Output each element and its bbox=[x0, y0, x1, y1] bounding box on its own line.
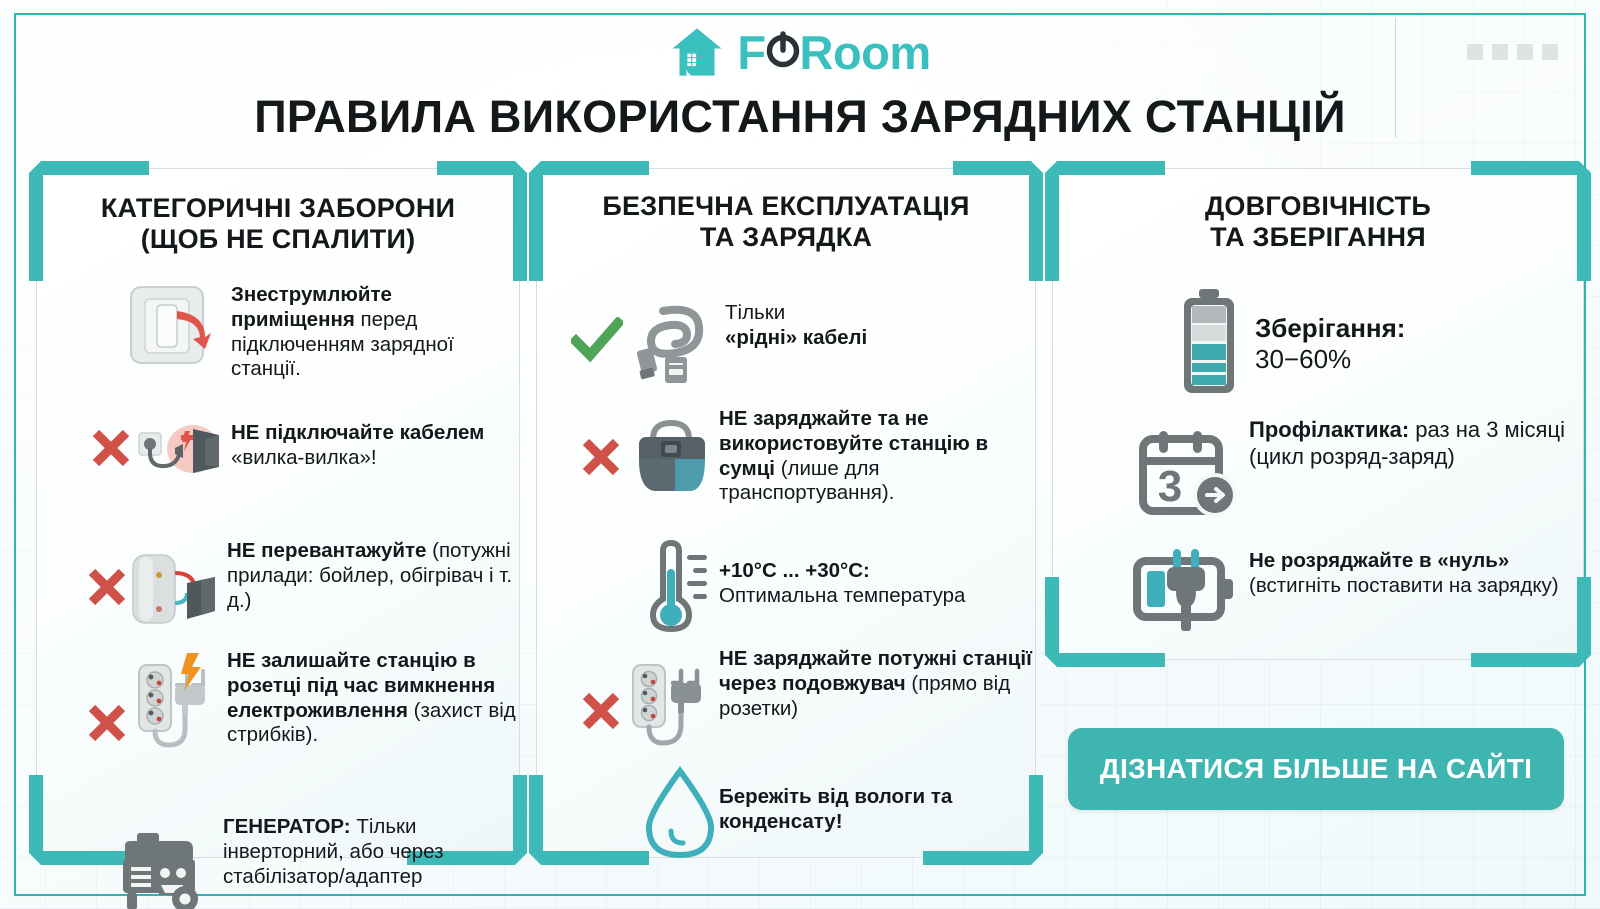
list-item-bold: Не розряджайте в «нуль» bbox=[1249, 549, 1509, 572]
light-switch-icon bbox=[125, 281, 221, 373]
brand-wordmark: F Room bbox=[737, 29, 930, 76]
list-item-bold: Зберігання: bbox=[1255, 313, 1405, 343]
list-item-text: Профілактика: раз на 3 місяці (цикл розр… bbox=[1249, 417, 1569, 470]
list-item-text: +10°C ... +30°C: Оптимальна температура bbox=[719, 559, 1035, 609]
list-item-rest: (встигніть поставити на зарядку) bbox=[1249, 574, 1559, 597]
brand-logo[interactable]: F Room bbox=[0, 22, 1600, 82]
plug-socket-overheat-icon bbox=[135, 421, 221, 479]
infographic-root: F Room ПРАВИЛА ВИКОРИСТАННЯ ЗАРЯДНИХ СТА… bbox=[0, 0, 1600, 909]
card-title-line2: (ЩОБ НЕ СПАЛИТИ) bbox=[37, 224, 519, 255]
header: F Room ПРАВИЛА ВИКОРИСТАННЯ ЗАРЯДНИХ СТА… bbox=[0, 22, 1600, 143]
learn-more-label: ДІЗНАТИСЯ БІЛЬШЕ НА САЙТІ bbox=[1100, 753, 1532, 785]
generator-icon bbox=[113, 829, 221, 909]
list-item-bold: Бережіть від вологи та конденсату! bbox=[719, 785, 952, 833]
list-item: +10°C ... +30°C: Оптимальна температура bbox=[567, 537, 1037, 637]
list-item: 3 Профілактика: раз на 3 місяці (цикл ро… bbox=[1115, 417, 1585, 521]
water-drop-icon bbox=[641, 765, 719, 861]
list-item-bold: НЕ підключайте кабелем bbox=[231, 421, 484, 444]
house-power-icon bbox=[669, 24, 725, 80]
list-item-bold: ГЕНЕРАТОР: bbox=[223, 815, 351, 838]
list-item: НЕ залишайте станцію в розетці під час в… bbox=[93, 649, 523, 759]
list-item: НЕ заряджайте потужні станції через подо… bbox=[567, 647, 1037, 757]
list-item: НЕ перевантажуйте (потужні прилади: бойл… bbox=[93, 539, 523, 629]
list-item-text: НЕ перевантажуйте (потужні прилади: бойл… bbox=[227, 539, 517, 613]
list-item-text: Знеструмлюйте приміщення перед підключен… bbox=[231, 283, 513, 382]
power-strip-plug-icon bbox=[623, 653, 719, 757]
card-longevity: ДОВГОВІЧНІСТЬ ТА ЗБЕРІГАННЯ bbox=[1052, 168, 1584, 660]
list-item-rest: Оптимальна температура bbox=[719, 584, 965, 607]
list-item: НЕ підключайте кабелем «вилка-вилка»! bbox=[93, 417, 513, 479]
list-item-text: НЕ заряджайте потужні станції через подо… bbox=[719, 647, 1037, 721]
list-item-text: Не розряджайте в «нуль» (встигніть поста… bbox=[1249, 549, 1569, 599]
list-item-bold: «рідні» кабелі bbox=[725, 326, 867, 349]
list-item-text: Зберігання: 30−60% bbox=[1255, 313, 1555, 376]
power-symbol-icon bbox=[766, 29, 800, 69]
red-x-icon bbox=[579, 689, 623, 738]
brand-name-part1: F bbox=[737, 29, 765, 76]
list-item: Не розряджайте в «нуль» (встигніть поста… bbox=[1115, 545, 1585, 633]
red-x-icon bbox=[85, 565, 129, 614]
card-title-line1: ДОВГОВІЧНІСТЬ bbox=[1053, 191, 1583, 222]
thermometer-icon bbox=[639, 537, 719, 637]
learn-more-button[interactable]: ДІЗНАТИСЯ БІЛЬШЕ НА САЙТІ bbox=[1068, 728, 1564, 810]
list-item-text: ГЕНЕРАТОР: Тільки інверторний, або через… bbox=[223, 815, 523, 889]
list-item-rest: 30−60% bbox=[1255, 344, 1351, 374]
battery-level-icon bbox=[1173, 287, 1245, 397]
list-item-text: НЕ залишайте станцію в розетці під час в… bbox=[227, 649, 519, 748]
list-item-text: НЕ заряджайте та не використовуйте станц… bbox=[719, 407, 1029, 506]
boiler-heater-icon bbox=[129, 549, 221, 629]
list-item: ГЕНЕРАТОР: Тільки інверторний, або через… bbox=[93, 815, 523, 909]
list-item: Знеструмлюйте приміщення перед підключен… bbox=[93, 279, 513, 382]
card-title-longevity: ДОВГОВІЧНІСТЬ ТА ЗБЕРІГАННЯ bbox=[1053, 191, 1583, 254]
list-item-rest: «вилка-вилка»! bbox=[231, 446, 377, 469]
usb-cable-icon bbox=[621, 297, 719, 389]
card-title-prohibitions: КАТЕГОРИЧНІ ЗАБОРОНИ (ЩОБ НЕ СПАЛИТИ) bbox=[37, 193, 519, 256]
list-item: Зберігання: 30−60% bbox=[1115, 287, 1575, 397]
bag-icon bbox=[625, 417, 719, 501]
green-check-icon bbox=[571, 317, 623, 370]
list-item: НЕ заряджайте та не використовуйте станц… bbox=[567, 407, 1037, 506]
calendar-3-cycle-icon: 3 bbox=[1137, 423, 1245, 521]
list-item: Тільки «рідні» кабелі bbox=[567, 291, 1027, 389]
card-title-line2: ТА ЗАРЯДКА bbox=[537, 222, 1035, 253]
red-x-icon bbox=[85, 701, 129, 750]
list-item-text: НЕ підключайте кабелем «вилка-вилка»! bbox=[231, 421, 513, 471]
brand-name-part2: Room bbox=[800, 29, 931, 76]
card-prohibitions: КАТЕГОРИЧНІ ЗАБОРОНИ (ЩОБ НЕ СПАЛИТИ) Зн… bbox=[36, 168, 520, 858]
list-item-rest: Тільки bbox=[725, 301, 785, 324]
card-title-line1: КАТЕГОРИЧНІ ЗАБОРОНИ bbox=[37, 193, 519, 224]
list-item-bold: НЕ перевантажуйте bbox=[227, 539, 426, 562]
red-x-icon bbox=[579, 435, 623, 484]
list-item: Бережіть від вологи та конденсату! bbox=[567, 765, 1037, 861]
red-x-icon bbox=[89, 426, 133, 475]
battery-plug-icon bbox=[1133, 547, 1245, 633]
card-title-line1: БЕЗПЕЧНА ЕКСПЛУАТАЦІЯ bbox=[537, 191, 1035, 222]
svg-text:3: 3 bbox=[1158, 462, 1182, 511]
card-title-line2: ТА ЗБЕРІГАННЯ bbox=[1053, 222, 1583, 253]
list-item-bold: +10°C ... +30°C: bbox=[719, 559, 870, 582]
card-safe-operation: БЕЗПЕЧНА ЕКСПЛУАТАЦІЯ ТА ЗАРЯДКА bbox=[536, 168, 1036, 858]
list-item-text: Бережіть від вологи та конденсату! bbox=[719, 785, 1037, 835]
list-item-bold: Профілактика: bbox=[1249, 417, 1409, 442]
list-item-text: Тільки «рідні» кабелі bbox=[725, 301, 1025, 351]
page-title: ПРАВИЛА ВИКОРИСТАННЯ ЗАРЯДНИХ СТАНЦІЙ bbox=[0, 91, 1600, 143]
power-strip-lightning-icon bbox=[129, 647, 221, 759]
card-title-safe-operation: БЕЗПЕЧНА ЕКСПЛУАТАЦІЯ ТА ЗАРЯДКА bbox=[537, 191, 1035, 254]
